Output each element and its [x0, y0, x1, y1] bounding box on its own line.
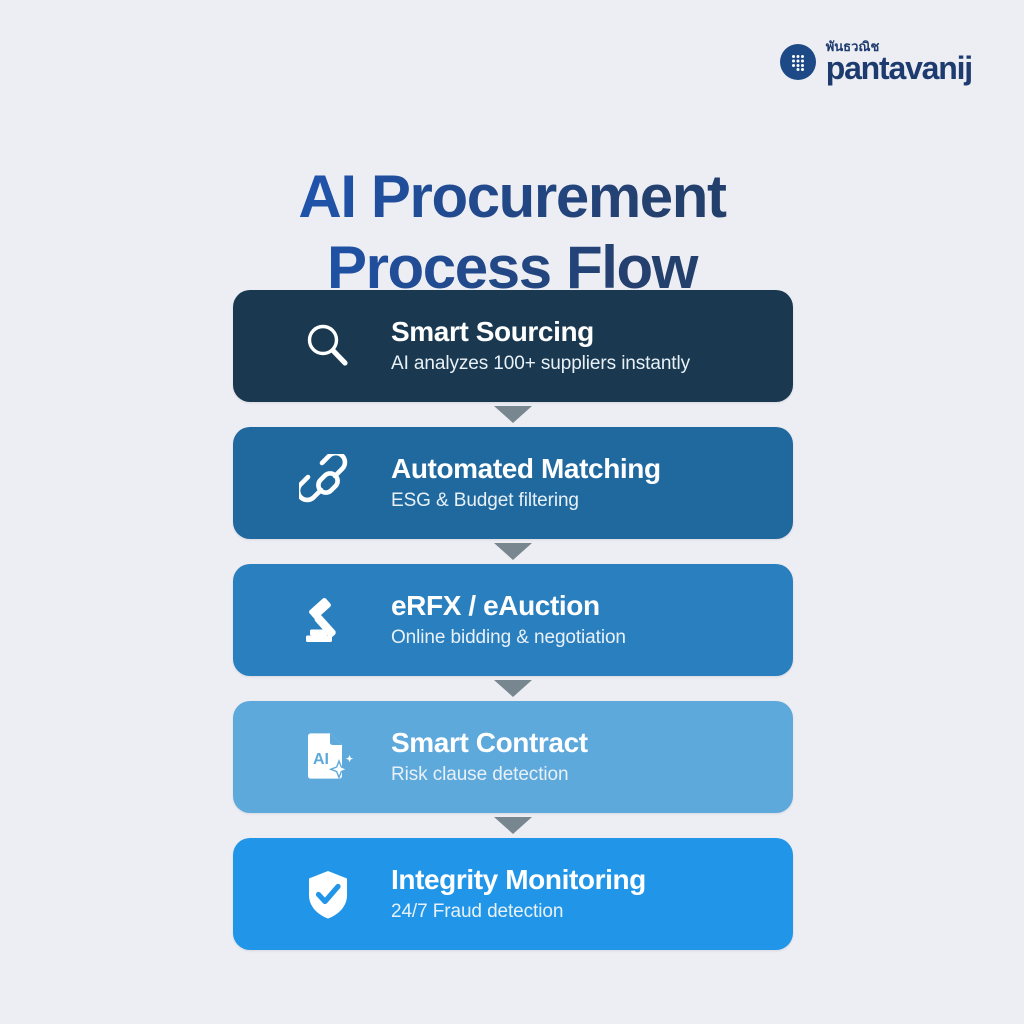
- process-flow: Smart Sourcing AI analyzes 100+ supplier…: [233, 290, 793, 950]
- flow-connector-4: [233, 813, 793, 838]
- brand-logo: พันธวณิช pantavanij: [780, 40, 972, 83]
- flow-step-erfx-eauction[interactable]: eRFX / eAuction Online bidding & negotia…: [233, 564, 793, 676]
- down-triangle-icon: [494, 406, 532, 423]
- shield-check-icon: [295, 865, 361, 923]
- flow-step-title: Integrity Monitoring: [391, 864, 646, 896]
- down-triangle-icon: [494, 543, 532, 560]
- flow-connector-1: [233, 402, 793, 427]
- brand-name: pantavanij: [826, 54, 972, 83]
- flow-step-subtitle: 24/7 Fraud detection: [391, 901, 646, 924]
- page-title: AI Procurement Process Flow: [0, 162, 1024, 304]
- flow-step-smart-sourcing[interactable]: Smart Sourcing AI analyzes 100+ supplier…: [233, 290, 793, 402]
- flow-step-subtitle: Risk clause detection: [391, 764, 588, 787]
- ai-document-sparkle-icon: AI: [295, 728, 361, 786]
- gavel-auction-icon: [295, 591, 361, 649]
- flow-step-title: Automated Matching: [391, 453, 661, 485]
- page-title-line-1: AI Procurement: [0, 162, 1024, 233]
- flow-step-integrity-monitoring[interactable]: Integrity Monitoring 24/7 Fraud detectio…: [233, 838, 793, 950]
- pantavanij-dot-matrix-logo-icon: [780, 44, 816, 80]
- flow-step-text: Smart Sourcing AI analyzes 100+ supplier…: [391, 316, 690, 376]
- flow-step-title: Smart Sourcing: [391, 316, 690, 348]
- magnifier-search-icon: [295, 318, 361, 374]
- flow-step-subtitle: AI analyzes 100+ suppliers instantly: [391, 353, 690, 376]
- flow-step-title: eRFX / eAuction: [391, 590, 626, 622]
- flow-step-text: Automated Matching ESG & Budget filterin…: [391, 453, 661, 513]
- flow-step-smart-contract[interactable]: AI Smart Contract Risk clause detection: [233, 701, 793, 813]
- flow-step-text: Integrity Monitoring 24/7 Fraud detectio…: [391, 864, 646, 924]
- flow-step-subtitle: Online bidding & negotiation: [391, 627, 626, 650]
- down-triangle-icon: [494, 817, 532, 834]
- flow-step-title: Smart Contract: [391, 727, 588, 759]
- flow-step-automated-matching[interactable]: Automated Matching ESG & Budget filterin…: [233, 427, 793, 539]
- chain-link-icon: [295, 454, 361, 512]
- flow-step-text: eRFX / eAuction Online bidding & negotia…: [391, 590, 626, 650]
- flow-connector-2: [233, 539, 793, 564]
- flow-step-text: Smart Contract Risk clause detection: [391, 727, 588, 787]
- flow-connector-3: [233, 676, 793, 701]
- down-triangle-icon: [494, 680, 532, 697]
- flow-step-subtitle: ESG & Budget filtering: [391, 490, 661, 513]
- svg-text:AI: AI: [313, 751, 329, 768]
- brand-wordmark: พันธวณิช pantavanij: [826, 40, 972, 83]
